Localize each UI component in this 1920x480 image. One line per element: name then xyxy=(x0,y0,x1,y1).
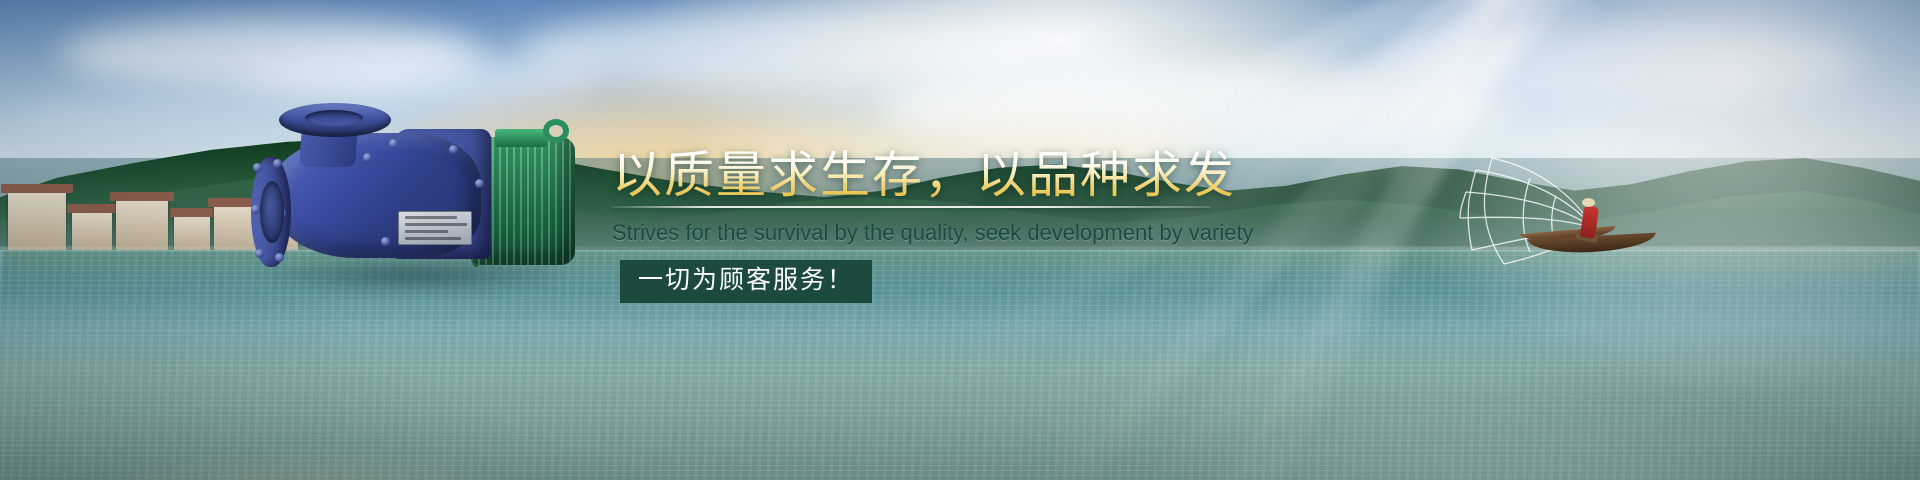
hero-banner: 以质量求生存，以品种求发展 Strives for the survival b… xyxy=(0,0,1920,480)
fisherman-scene xyxy=(1520,190,1670,270)
cloud xyxy=(60,18,480,92)
body-bolt xyxy=(389,139,398,148)
lifting-eye-icon xyxy=(543,119,569,143)
flange-bolt xyxy=(277,209,286,218)
body-bolt xyxy=(381,237,390,246)
pump-suction-flange xyxy=(251,157,291,267)
product-pump-image xyxy=(243,105,588,290)
body-bolt xyxy=(449,145,458,154)
banner-copy: 以质量求生存，以品种求发展 Strives for the survival b… xyxy=(612,150,1232,303)
banner-headline: 以质量求生存，以品种求发展 xyxy=(612,150,1232,200)
flange-bolt xyxy=(251,205,260,214)
headline-divider xyxy=(612,206,1210,208)
fisherman-head xyxy=(1582,198,1595,207)
banner-subline: Strives for the survival by the quality,… xyxy=(612,220,1232,246)
pump-discharge-flange xyxy=(279,103,391,137)
house xyxy=(8,192,66,254)
flange-bolt xyxy=(275,253,284,262)
body-bolt xyxy=(475,179,484,188)
cloud xyxy=(1380,24,1860,102)
motor-terminal-box xyxy=(495,129,547,147)
flange-bolt xyxy=(255,249,264,258)
flange-bolt xyxy=(253,163,262,172)
cloud xyxy=(520,10,1040,90)
pump-nameplate xyxy=(398,211,472,245)
cloud xyxy=(240,52,600,104)
banner-slogan-badge: 一切为顾客服务！ xyxy=(620,260,872,303)
flange-bolt xyxy=(273,159,282,168)
body-bolt xyxy=(363,153,372,162)
